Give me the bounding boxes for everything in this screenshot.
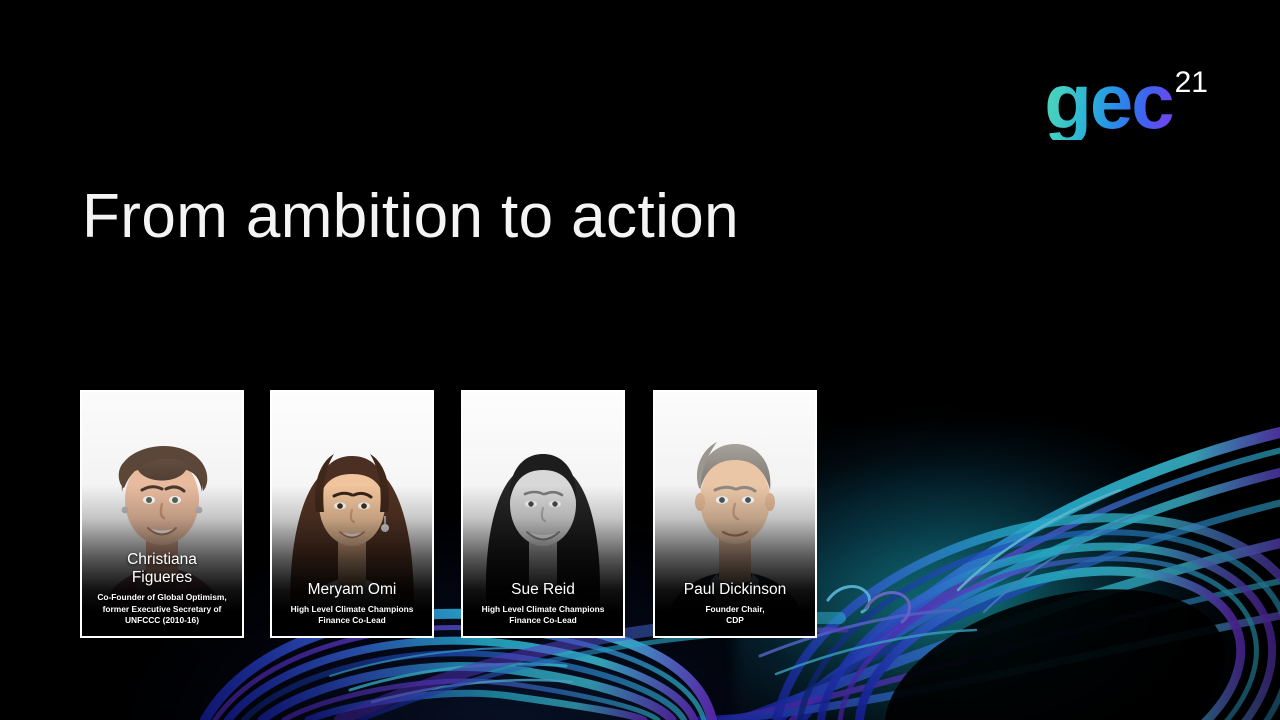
speaker-role: High Level Climate Champions Finance Co-… bbox=[278, 604, 426, 627]
speaker-card[interactable]: Sue Reid High Level Climate Champions Fi… bbox=[461, 390, 625, 638]
speaker-role-line1: High Level Climate Champions bbox=[278, 604, 426, 616]
speaker-role: Co-Founder of Global Optimism, former Ex… bbox=[88, 592, 236, 627]
speaker-name: Meryam Omi bbox=[278, 581, 426, 599]
speaker-role-line2: former Executive Secretary of bbox=[88, 604, 236, 616]
speaker-role-line2: CDP bbox=[661, 615, 809, 627]
presentation-slide: gec 21 From ambition to action bbox=[0, 0, 1280, 720]
speaker-caption: Sue Reid High Level Climate Champions Fi… bbox=[463, 581, 623, 627]
speaker-name-line2: Figueres bbox=[88, 569, 236, 587]
speaker-role-line2: Finance Co-Lead bbox=[278, 615, 426, 627]
speaker-name-line1: Meryam Omi bbox=[278, 581, 426, 599]
speaker-name: Christiana Figueres bbox=[88, 551, 236, 587]
speaker-name-line1: Paul Dickinson bbox=[661, 581, 809, 599]
speaker-role-line1: High Level Climate Champions bbox=[469, 604, 617, 616]
speaker-name-line1: Christiana bbox=[88, 551, 236, 569]
speaker-caption: Christiana Figueres Co-Founder of Global… bbox=[82, 551, 242, 627]
speaker-role-line2: Finance Co-Lead bbox=[469, 615, 617, 627]
speaker-name-line1: Sue Reid bbox=[469, 581, 617, 599]
speaker-role-line3: UNFCCC (2010-16) bbox=[88, 615, 236, 627]
speaker-name: Paul Dickinson bbox=[661, 581, 809, 599]
speaker-name: Sue Reid bbox=[469, 581, 617, 599]
speaker-role-line1: Founder Chair, bbox=[661, 604, 809, 616]
speaker-card[interactable]: Paul Dickinson Founder Chair, CDP bbox=[653, 390, 817, 638]
speaker-card[interactable]: Christiana Figueres Co-Founder of Global… bbox=[80, 390, 244, 638]
speaker-role-line1: Co-Founder of Global Optimism, bbox=[88, 592, 236, 604]
speaker-card[interactable]: Meryam Omi High Level Climate Champions … bbox=[270, 390, 434, 638]
speaker-card-row: Christiana Figueres Co-Founder of Global… bbox=[0, 0, 1280, 720]
speaker-caption: Paul Dickinson Founder Chair, CDP bbox=[655, 581, 815, 627]
speaker-role: High Level Climate Champions Finance Co-… bbox=[469, 604, 617, 627]
speaker-caption: Meryam Omi High Level Climate Champions … bbox=[272, 581, 432, 627]
speaker-role: Founder Chair, CDP bbox=[661, 604, 809, 627]
